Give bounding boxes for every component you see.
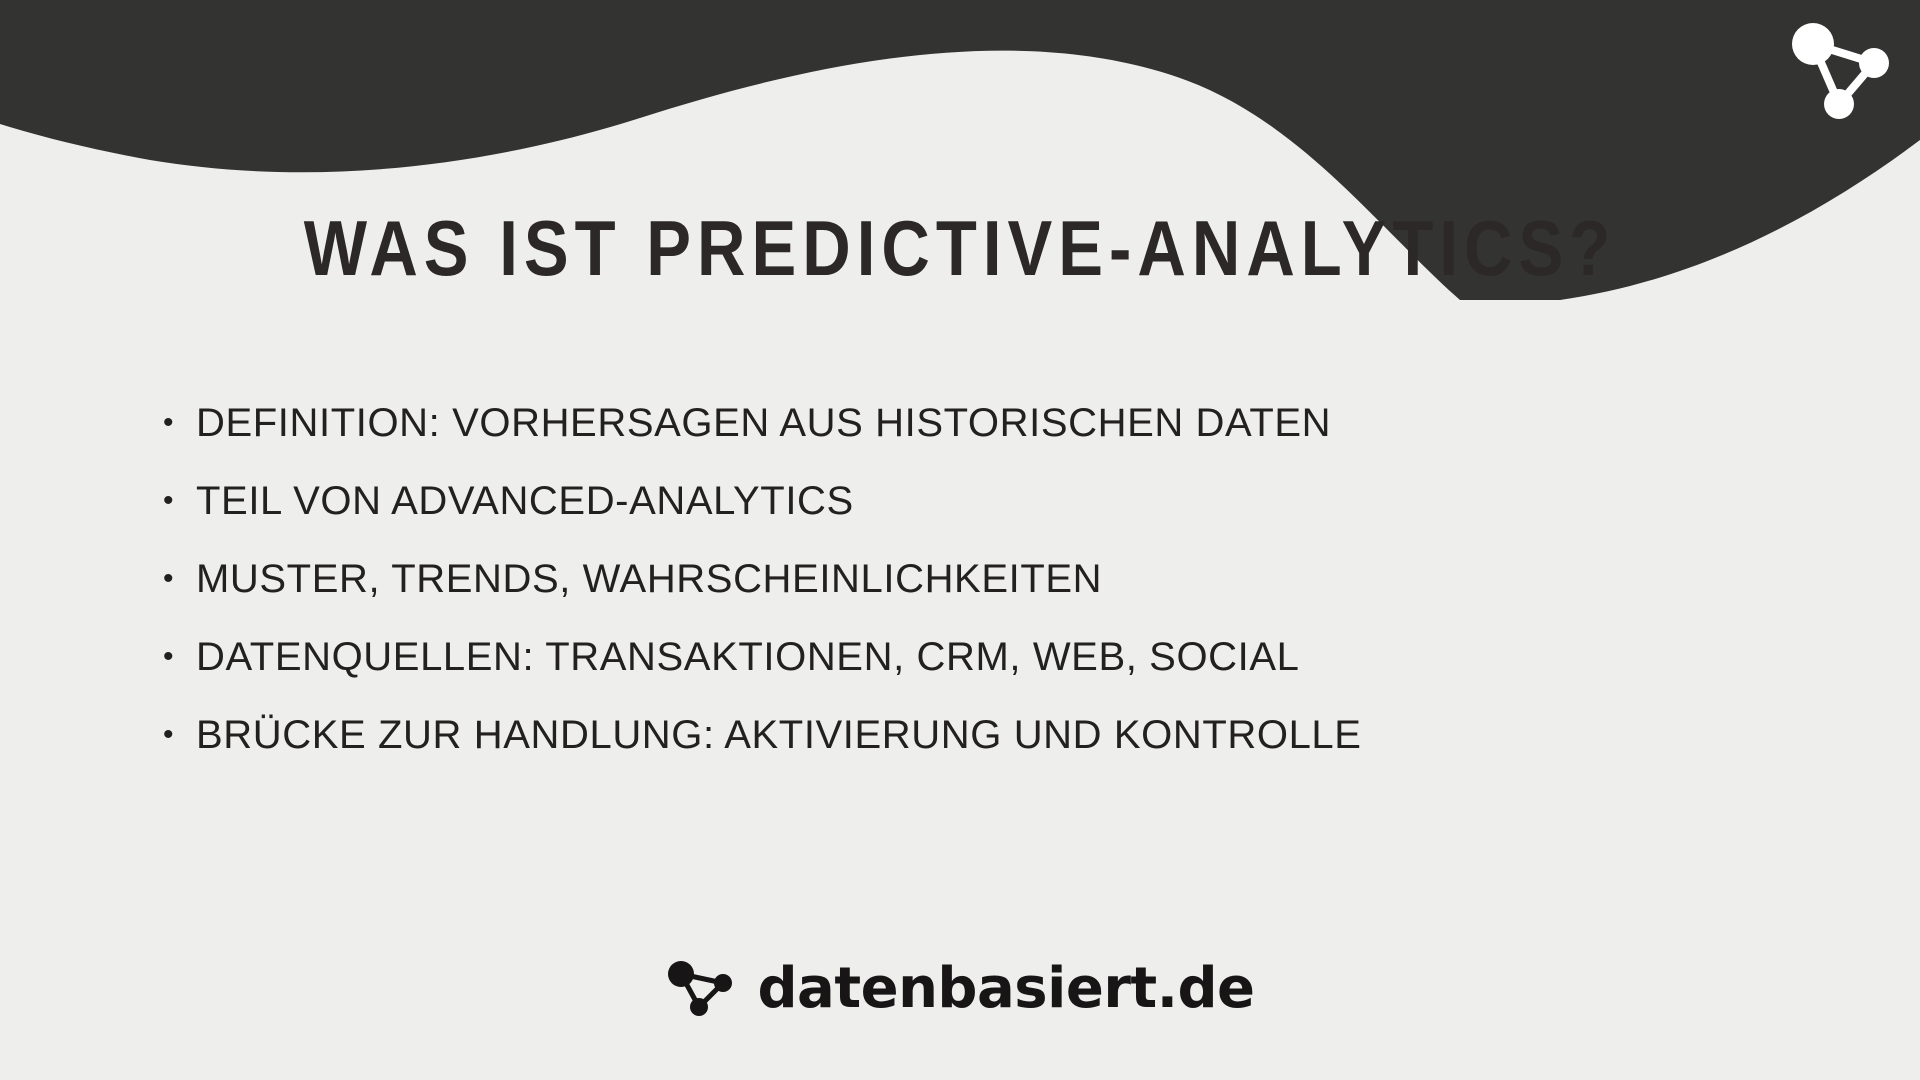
network-nodes-icon	[1792, 23, 1889, 119]
bullet-dot-icon: •	[160, 556, 196, 602]
network-nodes-icon	[665, 958, 739, 1020]
list-item: • MUSTER, TRENDS, WAHRSCHEINLICHKEITEN	[160, 556, 1820, 634]
list-item-label: BRÜCKE ZUR HANDLUNG: AKTIVIERUNG UND KON…	[196, 712, 1362, 758]
header-logo	[1782, 16, 1902, 124]
list-item-label: DATENQUELLEN: TRANSAKTIONEN, CRM, WEB, S…	[196, 634, 1299, 680]
list-item-label: TEIL VON ADVANCED-ANALYTICS	[196, 478, 854, 524]
footer-wordmark: datenbasiert.de	[757, 961, 1254, 1017]
list-item: • DATENQUELLEN: TRANSAKTIONEN, CRM, WEB,…	[160, 634, 1820, 712]
list-item: • TEIL VON ADVANCED-ANALYTICS	[160, 478, 1820, 556]
slide-canvas: WAS IST PREDICTIVE-ANALYTICS? • DEFINITI…	[0, 0, 1920, 1080]
bullet-dot-icon: •	[160, 634, 196, 680]
slide-title: WAS IST PREDICTIVE-ANALYTICS?	[134, 208, 1785, 290]
list-item: • DEFINITION: VORHERSAGEN AUS HISTORISCH…	[160, 400, 1820, 478]
list-item-label: MUSTER, TRENDS, WAHRSCHEINLICHKEITEN	[196, 556, 1102, 602]
bullet-dot-icon: •	[160, 478, 196, 524]
footer-brand: datenbasiert.de	[0, 958, 1920, 1020]
bullet-dot-icon: •	[160, 712, 196, 758]
list-item-label: DEFINITION: VORHERSAGEN AUS HISTORISCHEN…	[196, 400, 1331, 446]
bullet-dot-icon: •	[160, 400, 196, 446]
bullet-list: • DEFINITION: VORHERSAGEN AUS HISTORISCH…	[160, 400, 1820, 790]
list-item: • BRÜCKE ZUR HANDLUNG: AKTIVIERUNG UND K…	[160, 712, 1820, 790]
